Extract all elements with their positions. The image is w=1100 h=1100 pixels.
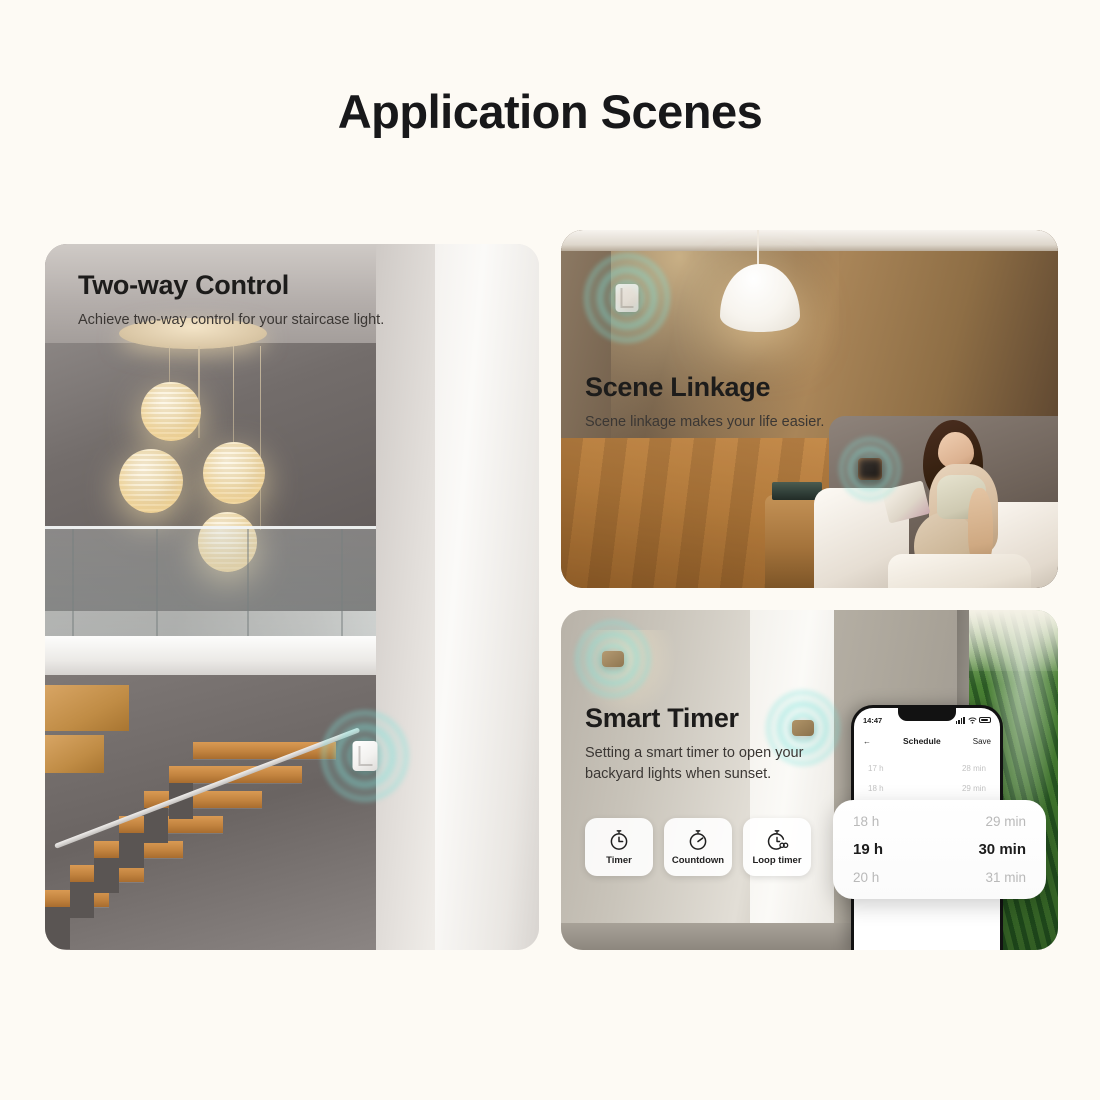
- phone-nav-bar: ← Schedule Save: [854, 730, 1000, 752]
- save-button[interactable]: Save: [973, 737, 991, 746]
- clock-icon: [607, 828, 631, 852]
- two-way-control-subtitle: Achieve two-way control for your stairca…: [78, 310, 384, 331]
- switch-rocker-icon: [358, 746, 372, 766]
- panel-two-way-control: Two-way Control Achieve two-way control …: [45, 244, 539, 950]
- magnified-minute: 31 min: [985, 870, 1026, 885]
- wood-beam: [45, 685, 129, 731]
- phone-notch: [898, 708, 956, 721]
- scene-linkage-heading: Scene Linkage: [585, 372, 824, 403]
- smart-timer-subtitle: Setting a smart timer to open your backy…: [585, 743, 830, 784]
- pendant-lamp: [141, 382, 200, 441]
- smart-panel-switch[interactable]: [858, 458, 882, 480]
- status-icon-group: [956, 717, 991, 724]
- chip-countdown-label: Countdown: [672, 855, 724, 866]
- staircase-scene-image: [45, 244, 539, 950]
- magnified-row-selected[interactable]: 19 h 30 min: [853, 836, 1026, 864]
- status-time: 14:47: [863, 716, 882, 725]
- magnified-hour: 20 h: [853, 870, 879, 885]
- back-arrow-icon[interactable]: ←: [863, 737, 871, 746]
- chip-loop-timer[interactable]: Loop timer: [743, 818, 811, 876]
- two-way-control-heading: Two-way Control: [78, 270, 384, 301]
- white-pillar: [435, 244, 539, 950]
- picker-row[interactable]: 17 h 28 min: [868, 758, 986, 778]
- lamp-cord: [198, 346, 200, 438]
- smart-timer-heading: Smart Timer: [585, 703, 830, 734]
- switch-rocker-icon: [621, 288, 634, 307]
- scene-linkage-text-block: Scene Linkage Scene linkage makes your l…: [585, 372, 824, 433]
- picker-hour: 17 h: [868, 764, 884, 773]
- magnified-row[interactable]: 18 h 29 min: [853, 808, 1026, 836]
- picker-minute: 28 min: [962, 764, 986, 773]
- wall-switch-plate[interactable]: [616, 284, 639, 312]
- wall-corner: [376, 244, 435, 950]
- woman-reading-in-bed: [896, 416, 1045, 588]
- phone-nav-title: Schedule: [903, 736, 941, 746]
- bedroom-ceiling: [561, 230, 1058, 251]
- panel-scene-linkage: Scene Linkage Scene linkage makes your l…: [561, 230, 1058, 588]
- chip-loop-timer-label: Loop timer: [752, 855, 801, 866]
- floor-slab: [45, 636, 381, 676]
- pendant-lamp: [119, 449, 183, 513]
- wall-switch-plate[interactable]: [602, 651, 624, 667]
- sky-patch: [969, 610, 1058, 671]
- loop-timer-icon: [765, 828, 789, 852]
- panel-smart-timer: Smart Timer Setting a smart timer to ope…: [561, 610, 1058, 950]
- magnified-hour: 18 h: [853, 814, 879, 829]
- magnified-minute: 30 min: [978, 841, 1026, 858]
- lamp-cord: [757, 230, 759, 266]
- switch-halo-wall[interactable]: [584, 253, 670, 343]
- chip-timer[interactable]: Timer: [585, 818, 653, 876]
- switch-halo-bedside[interactable]: [839, 437, 901, 501]
- smart-timer-text-block: Smart Timer Setting a smart timer to ope…: [585, 703, 830, 784]
- chip-timer-label: Timer: [606, 855, 632, 866]
- picker-hour: 18 h: [868, 784, 884, 793]
- glass-balustrade: [45, 526, 381, 646]
- chip-countdown[interactable]: Countdown: [664, 818, 732, 876]
- blanket: [888, 554, 1031, 588]
- magnified-hour: 19 h: [853, 841, 883, 858]
- lamp-cord: [260, 346, 262, 530]
- scene-linkage-subtitle: Scene linkage makes your life easier.: [585, 412, 824, 433]
- magnified-minute: 29 min: [985, 814, 1026, 829]
- magnified-time-picker[interactable]: 18 h 29 min 19 h 30 min 20 h 31 min: [833, 800, 1046, 899]
- switch-halo-left[interactable]: [575, 620, 651, 698]
- magnified-row[interactable]: 20 h 31 min: [853, 864, 1026, 892]
- picker-row[interactable]: 18 h 29 min: [868, 778, 986, 798]
- two-way-control-text-block: Two-way Control Achieve two-way control …: [78, 270, 384, 331]
- wall-switch-plate[interactable]: [353, 741, 378, 771]
- wifi-icon: [968, 717, 977, 724]
- picker-minute: 29 min: [962, 784, 986, 793]
- pendant-lamp: [203, 442, 265, 504]
- wood-beam: [45, 735, 104, 774]
- switch-halo-upper[interactable]: [321, 710, 409, 802]
- page-title: Application Scenes: [0, 84, 1100, 139]
- timer-mode-chips: Timer Countdown Loop timer: [585, 818, 811, 876]
- battery-icon: [979, 717, 991, 724]
- signal-bars-icon: [956, 717, 965, 724]
- stopwatch-icon: [686, 828, 710, 852]
